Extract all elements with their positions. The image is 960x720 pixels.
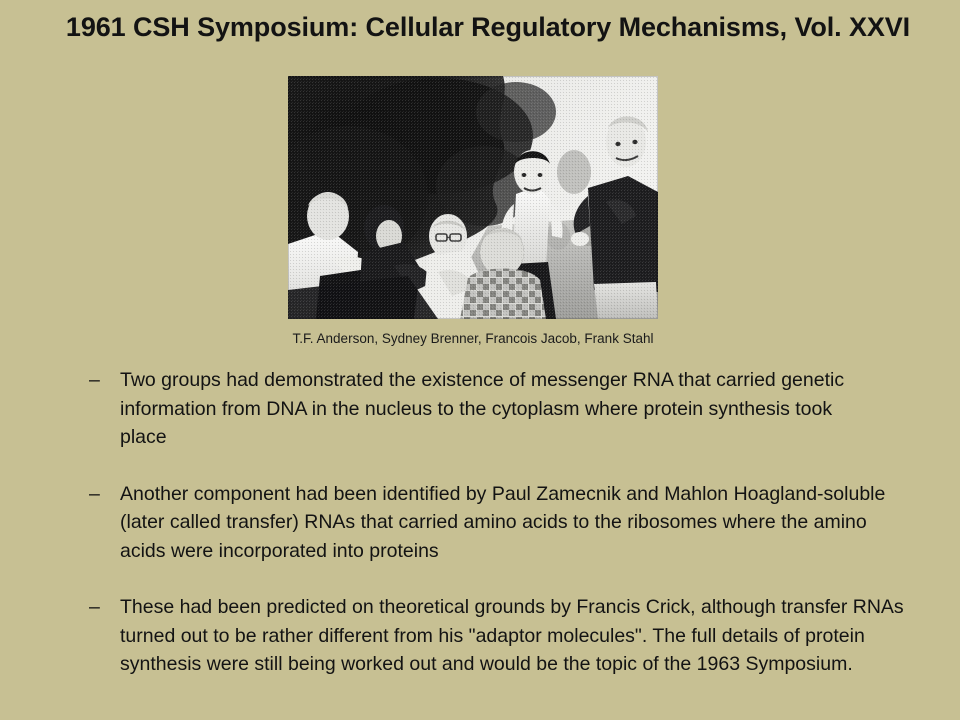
group-photo [288, 76, 658, 319]
list-item-text: Another component had been identified by… [120, 480, 892, 566]
bullet-dash-icon: – [89, 480, 100, 509]
list-item-text: Two groups had demonstrated the existenc… [120, 366, 860, 452]
list-item: – Another component had been identified … [88, 480, 892, 566]
page-title: 1961 CSH Symposium: Cellular Regulatory … [58, 12, 918, 43]
slide-canvas: 1961 CSH Symposium: Cellular Regulatory … [0, 0, 960, 720]
bullet-dash-icon: – [89, 366, 100, 395]
photo-caption: T.F. Anderson, Sydney Brenner, Francois … [238, 331, 708, 346]
bullet-list: – Two groups had demonstrated the existe… [88, 366, 888, 679]
bullet-dash-icon: – [89, 593, 100, 622]
group-photo-image [288, 76, 658, 319]
list-item: – Two groups had demonstrated the existe… [88, 366, 860, 452]
list-item-text: These had been predicted on theoretical … [120, 593, 910, 679]
list-item: – These had been predicted on theoretica… [88, 593, 910, 679]
